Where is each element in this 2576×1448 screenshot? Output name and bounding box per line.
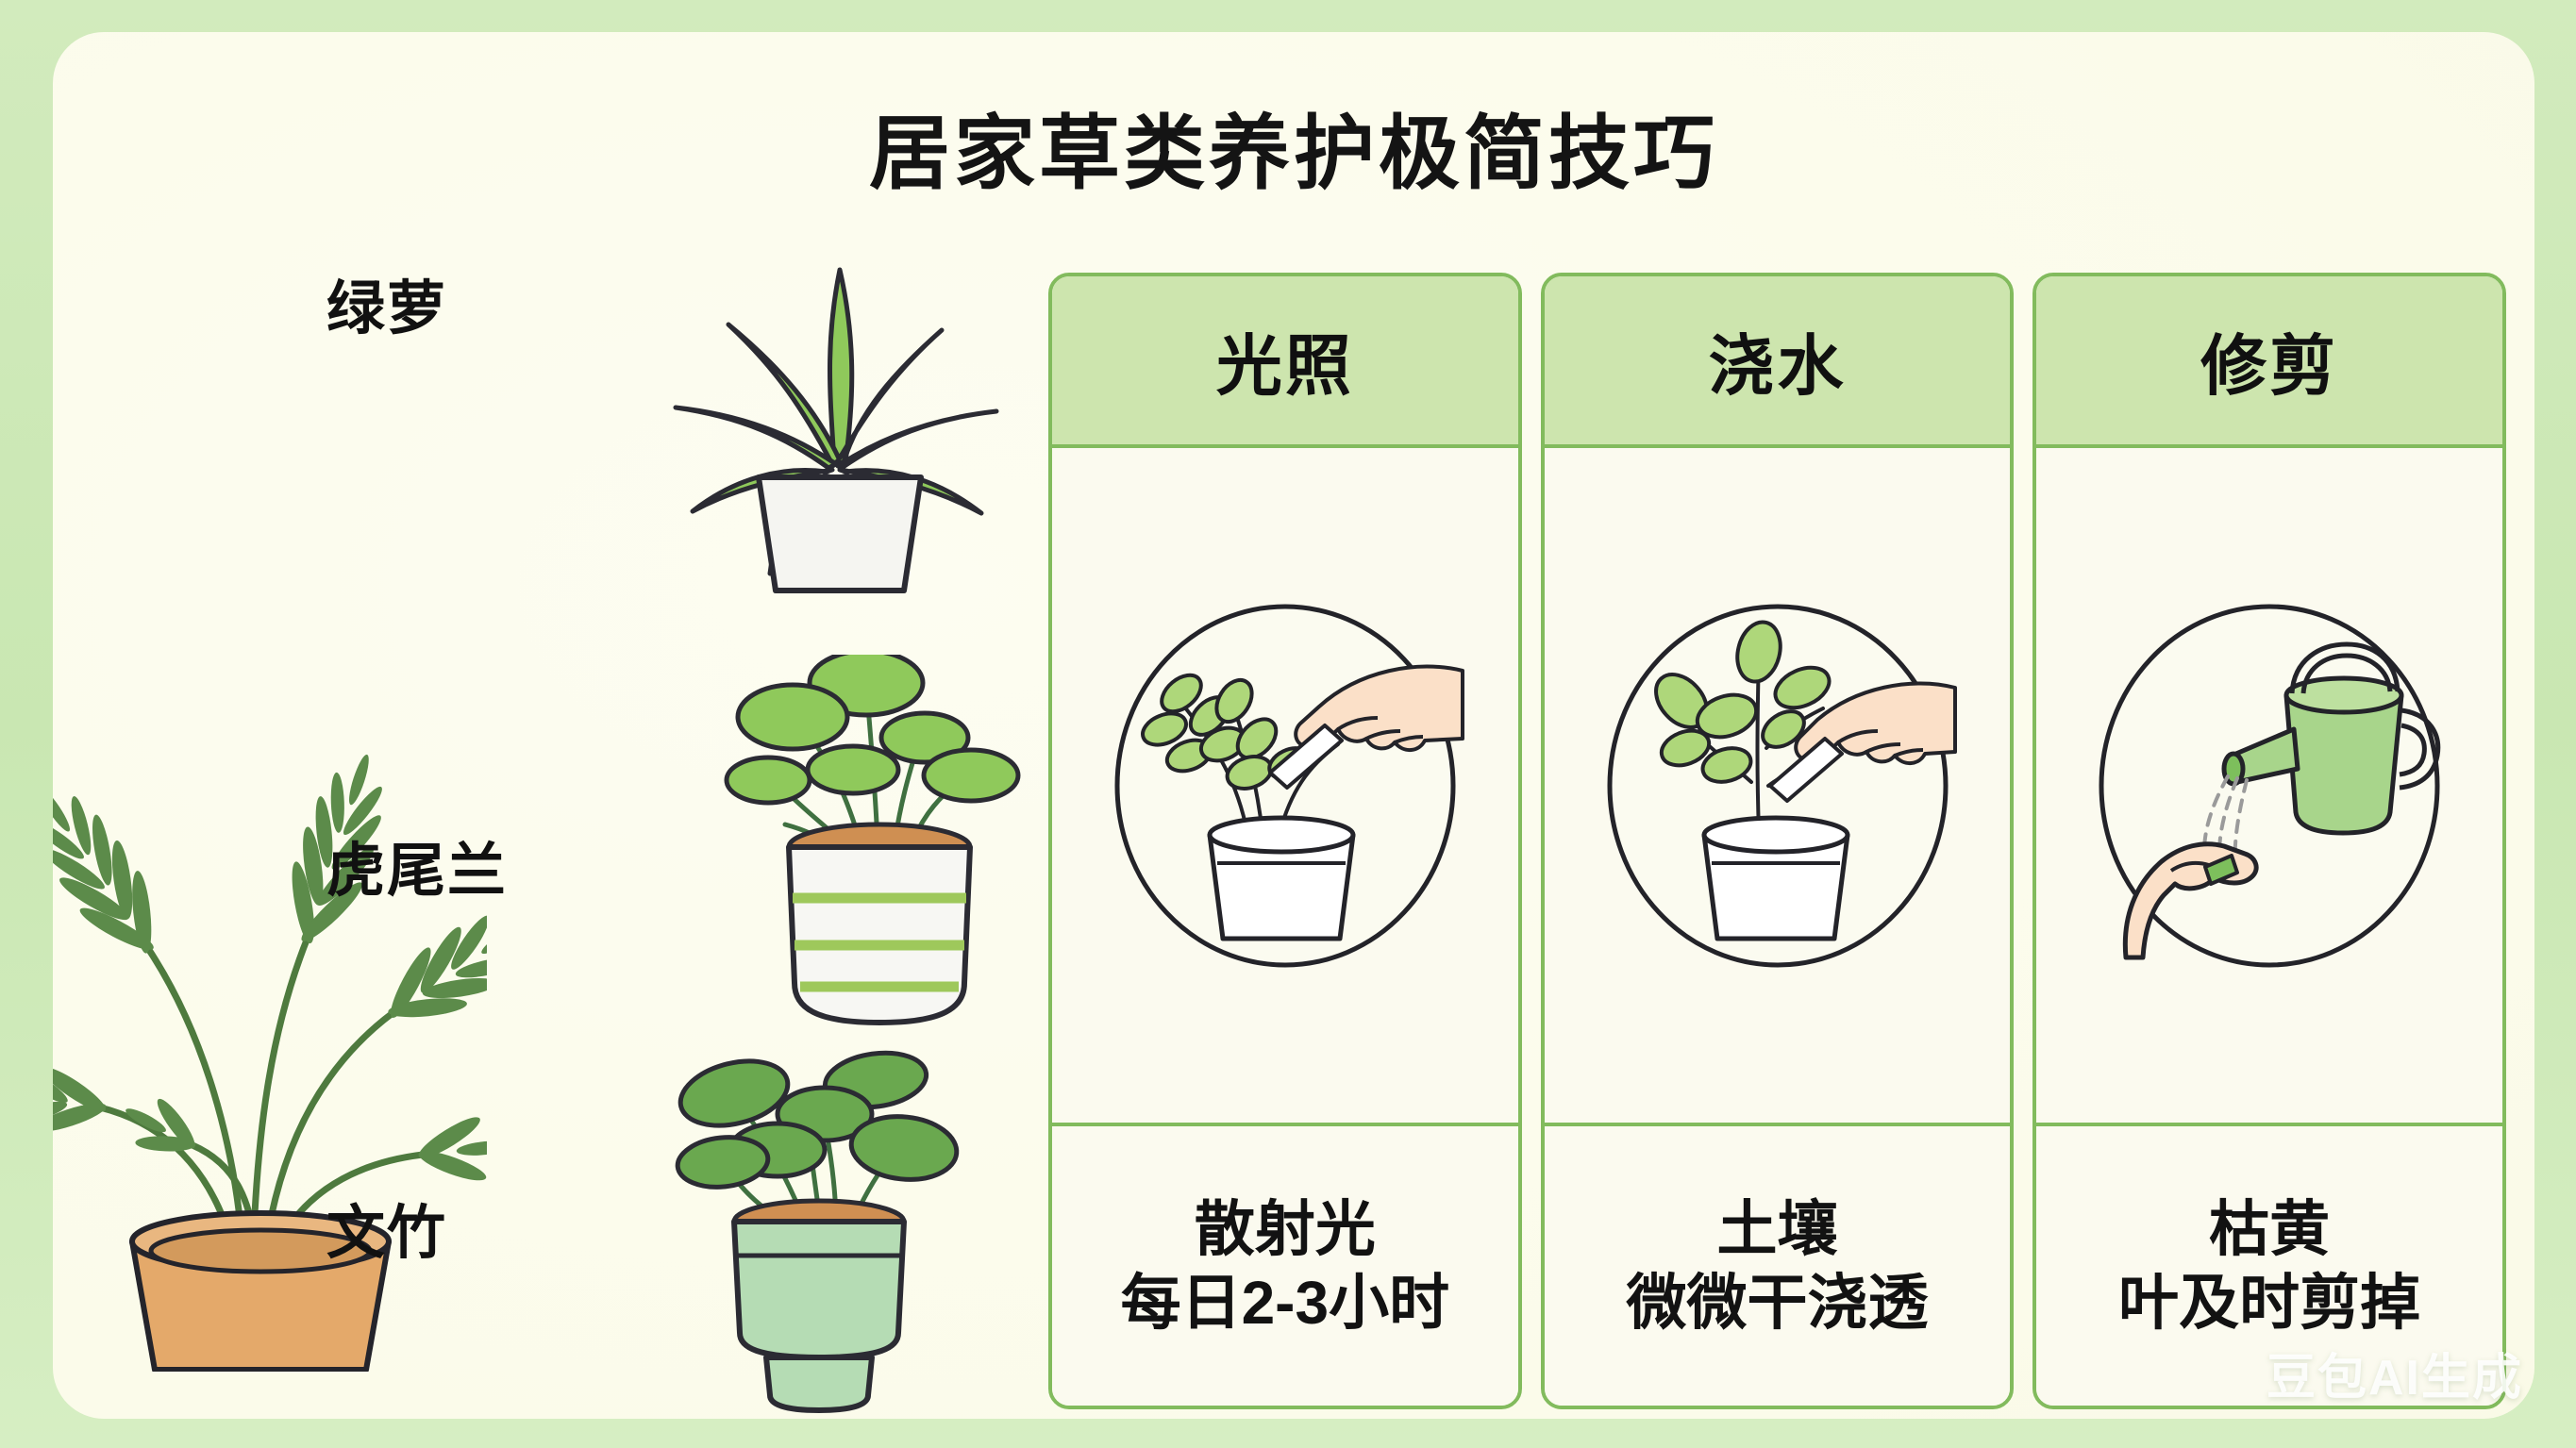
plant-label-0: 绿萝 <box>326 260 447 345</box>
pilea-striped-pot-icon <box>694 655 1091 1070</box>
caption-line-1: 散射光 <box>1195 1192 1376 1266</box>
content-panel: 居家草类养护极简技巧 <box>53 32 2534 1419</box>
card-header-text: 修剪 <box>2200 313 2338 408</box>
care-cards: 光照 <box>1048 273 2506 1409</box>
page-title: 居家草类养护极简技巧 <box>53 87 2534 205</box>
card-header-text: 浇水 <box>1709 313 1847 408</box>
watermark: 豆包AI生成 <box>2267 1338 2523 1408</box>
card-illustration-pruning <box>2036 448 2502 1123</box>
card-header-text: 光照 <box>1216 313 1354 408</box>
card-illustration-watering <box>1545 448 2011 1123</box>
plant-label-2: 文竹 <box>326 1185 447 1270</box>
caption-line-2: 微微干浇透 <box>1627 1266 1929 1340</box>
card-header-watering: 浇水 <box>1545 276 2011 448</box>
card-illustration-light <box>1052 448 1518 1123</box>
care-card-watering[interactable]: 浇水 <box>1541 273 2015 1409</box>
caption-line-1: 土壤 <box>1717 1192 1838 1266</box>
care-card-pruning[interactable]: 修剪 <box>2032 273 2506 1409</box>
card-caption-light: 散射光 每日2-3小时 <box>1052 1123 1518 1406</box>
hand-tool-plant-icon <box>1598 597 1957 974</box>
caption-line-2: 每日2-3小时 <box>1121 1266 1450 1340</box>
pilea-green-pot-icon <box>657 1037 1053 1419</box>
caption-line-2: 叶及时剪掉 <box>2118 1266 2420 1340</box>
caption-line-1: 枯黄 <box>2209 1192 2330 1266</box>
watering-can-hand-icon <box>2090 597 2449 974</box>
card-header-pruning: 修剪 <box>2036 276 2502 448</box>
plant-label-1: 虎尾兰 <box>326 823 508 907</box>
care-card-light[interactable]: 光照 <box>1048 273 1522 1409</box>
card-header-light: 光照 <box>1052 276 1518 448</box>
spider-plant-icon <box>638 211 1034 598</box>
hand-tool-plant-icon <box>1106 597 1464 974</box>
card-caption-watering: 土壤 微微干浇透 <box>1545 1123 2011 1406</box>
